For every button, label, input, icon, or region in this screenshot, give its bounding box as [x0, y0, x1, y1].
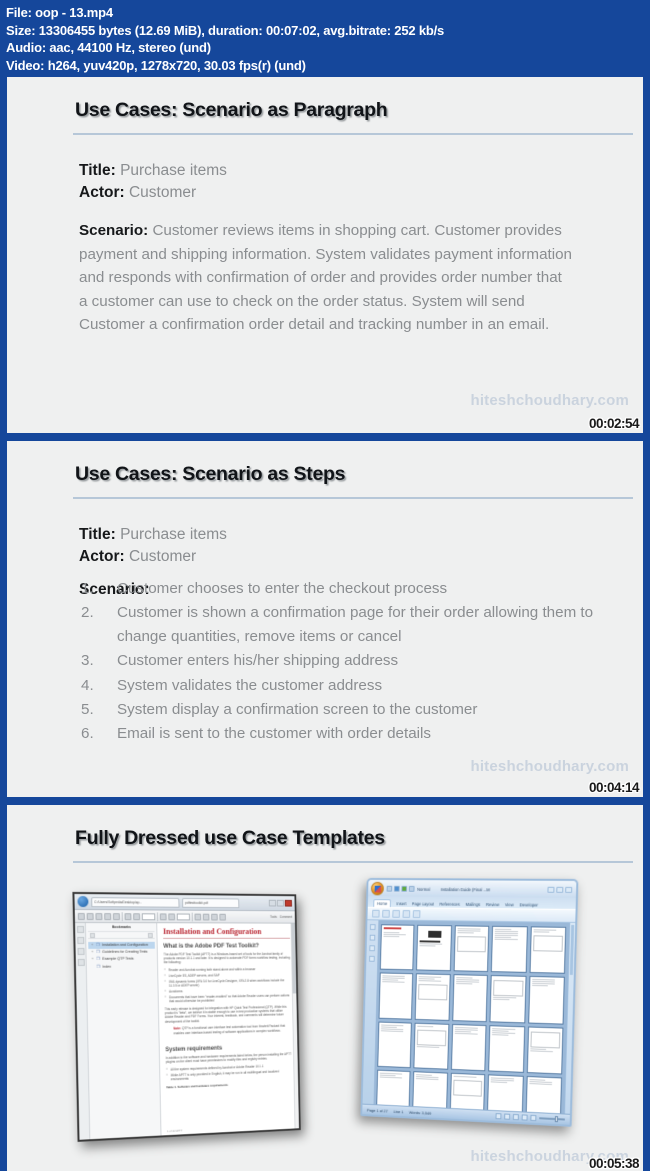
slide-2-title-rule [73, 497, 633, 499]
slide-1-scenario-label: Scenario: [79, 222, 148, 239]
slide-2-steps-list: Customer chooses to enter the checkout p… [79, 577, 621, 747]
slide-3-title-rule [73, 861, 633, 863]
bookmark-label: Example QTP Tests [102, 957, 153, 962]
bookmark-label: Guidelines for Creating Tests [102, 950, 153, 955]
page-thumbnail [525, 1076, 562, 1114]
web-layout-view-icon[interactable] [513, 1114, 519, 1120]
paste-icon [372, 910, 380, 918]
list-item: Customer is shown a confirmation page fo… [79, 601, 621, 649]
style-name-label: Normal [417, 886, 430, 891]
slide-2-actor-value: Customer [129, 548, 196, 565]
slide-3-screenshots: C:/Users/Softpedia/Desktop/ap... pdftest… [7, 867, 648, 1167]
page-thumbnail [380, 924, 415, 970]
slide-2-title-label: Title: [79, 526, 116, 543]
window-controls [269, 900, 292, 907]
slide-1-scenario-text: Customer reviews items in shopping cart.… [79, 222, 572, 333]
slide-1-timestamp: 00:02:54 [589, 416, 639, 431]
bookmark-label: Installation and Configuration [102, 943, 153, 948]
fit-page-icon [194, 913, 201, 920]
slide-2-title-value: Purchase items [120, 526, 227, 543]
list-item: XML dynamic forms (XFA 3.0 for LiveCycle… [164, 978, 291, 988]
toolbar-separator [157, 912, 158, 921]
acrobat-path-tab: C:/Users/Softpedia/Desktop/ap... [91, 897, 179, 908]
bookmark-icon: ❐ [96, 957, 100, 962]
page-thumbnail [379, 973, 414, 1020]
document-page-footer: 1 of 22 APTT [167, 1129, 182, 1134]
tab-home[interactable]: Home [373, 899, 391, 907]
scrollbar-thumb[interactable] [291, 924, 296, 994]
bookmark-options-icon [90, 932, 95, 937]
list-item: System display a confirmation screen to … [79, 698, 621, 722]
slide-2-actor-row: Actor: Customer [79, 545, 196, 568]
acrobat-bookmarks-panel: Bookmarks + ❐ Installation and C [86, 923, 162, 1139]
email-icon [104, 913, 111, 920]
slide-thumbnail-1[interactable]: Use Cases: Scenario as Paragraph Title: … [2, 77, 648, 433]
document-note-text: QTP is a functional user interface test … [174, 1024, 285, 1035]
slide-2-title: Use Cases: Scenario as Steps [75, 463, 345, 486]
select-tool-icon [113, 913, 120, 920]
toolbar-separator [192, 912, 193, 921]
expand-icon: + [90, 957, 94, 962]
page-thumbnail [415, 974, 450, 1021]
next-page-icon [133, 913, 140, 920]
page-thumbnails-icon [77, 926, 84, 933]
slide-1-actor-label: Actor: [79, 184, 125, 201]
acrobat-title-bar: C:/Users/Softpedia/Desktop/ap... pdftest… [74, 894, 294, 911]
word-title-bar: Normal Installation Guide (Final ...M [368, 880, 576, 898]
page-thumbnail [488, 1025, 524, 1073]
slide-1-actor-value: Customer [129, 184, 196, 201]
page-thumbnail [451, 1024, 487, 1072]
file-info-header: File: oop - 13.mp4 Size: 13306455 bytes … [0, 0, 650, 75]
slide-1-scenario-paragraph: Scenario: Customer reviews items in shop… [79, 219, 573, 337]
file-info-line-video: Video: h264, yuv420p, 1278x720, 30.03 fp… [6, 57, 644, 75]
back-arrow-icon [77, 896, 88, 907]
undo-icon [387, 886, 393, 892]
status-word-count: Words: 3,549 [409, 1109, 431, 1115]
word-page-canvas [374, 920, 570, 1113]
list-item: Customer enters his/her shipping address [79, 649, 621, 673]
new-bookmark-icon [148, 933, 153, 938]
print-layout-view-icon[interactable] [495, 1113, 501, 1119]
scrollbar-thumb[interactable] [570, 925, 574, 975]
expand-icon: + [90, 950, 94, 955]
status-page-number: Page 1 of 27 [367, 1107, 388, 1113]
full-screen-reading-icon[interactable] [504, 1114, 510, 1120]
acrobat-reader-screenshot: C:/Users/Softpedia/Desktop/ap... pdftest… [72, 892, 300, 1142]
watermark: hiteshchoudhary.com [470, 758, 629, 775]
slide-1-title: Use Cases: Scenario as Paragraph [75, 99, 387, 122]
watermark: hiteshchoudhary.com [470, 392, 629, 409]
page-thumbnail [490, 975, 526, 1023]
rotate-icon [211, 913, 218, 920]
quick-access-toolbar [387, 886, 415, 892]
bookmark-icon: ❐ [96, 950, 100, 955]
maximize-icon [556, 887, 563, 893]
acrobat-file-tab: pdftesttoolkit.pdf [182, 897, 239, 907]
expand-icon: + [90, 943, 94, 948]
save-icon [394, 886, 400, 892]
list-item: Reader and Acrobat running both stand-al… [164, 967, 291, 972]
slide-1-title-value: Purchase items [120, 162, 227, 179]
comment-pane-label: Comment [280, 915, 293, 919]
list-item: Email is sent to the customer with order… [79, 722, 621, 746]
bookmarks-icon [77, 937, 84, 944]
document-paragraph-3: In addition to the software and hardware… [166, 1052, 293, 1065]
slide-thumbnail-3[interactable]: Fully Dressed use Case Templates C:/User… [2, 805, 648, 1171]
acrobat-toolbar: Tools Comment [75, 910, 295, 924]
status-line-number: Line 1 [393, 1109, 403, 1114]
styles-icon [413, 910, 421, 918]
browse-up-icon [370, 935, 376, 941]
redo-icon [401, 886, 407, 892]
fullscreen-icon [219, 913, 226, 920]
close-icon [565, 887, 572, 893]
bookmark-label: Index [102, 964, 153, 970]
document-bullet-list-2: All the system requirements defined by A… [166, 1063, 293, 1082]
tools-pane-label: Tools [270, 915, 277, 919]
word-document-title: Installation Guide (Final ...M [440, 887, 490, 892]
toolbar-separator [122, 912, 123, 921]
ruler-icon [370, 924, 376, 930]
slide-thumbnail-2[interactable]: Use Cases: Scenario as Steps Title: Purc… [2, 441, 648, 797]
list-item: LiveCycle ES, ADEP servers, and SAP [164, 972, 291, 978]
document-bullet-list-1: Reader and Acrobat running both stand-al… [164, 967, 291, 1004]
slide-2-title-row: Title: Purchase items [79, 523, 227, 546]
acrobat-document-page: Installation and Configuration What is t… [157, 923, 299, 1135]
slide-2-actor-label: Actor: [79, 548, 125, 565]
zoom-out-icon [160, 913, 167, 920]
print-preview-icon [409, 886, 415, 892]
outline-view-icon[interactable] [522, 1114, 528, 1120]
open-file-icon [78, 912, 85, 919]
attachments-icon [77, 948, 84, 955]
list-item: Documents that have been "reader-enabled… [164, 993, 291, 1004]
slide-1-actor-row: Actor: Customer [79, 181, 196, 204]
slide-1-title-row: Title: Purchase items [79, 159, 227, 182]
page-thumbnail [487, 1074, 523, 1113]
page-thumbnail [529, 926, 566, 974]
page-number-box [142, 913, 155, 920]
previous-page-icon [125, 913, 132, 920]
word-document-screenshot: Normal Installation Guide (Final ...M Ho… [360, 878, 578, 1127]
print-icon [95, 913, 102, 920]
page-thumbnail [453, 925, 489, 972]
video-player-frame: File: oop - 13.mp4 Size: 13306455 bytes … [0, 0, 650, 1171]
zoom-level-box [177, 913, 190, 920]
document-note: Note: QTP is a functional user interface… [173, 1024, 291, 1035]
zoom-in-icon [168, 913, 175, 920]
page-thumbnail [491, 926, 528, 973]
minimize-icon [547, 887, 554, 893]
bookmark-icon: ❐ [96, 943, 100, 948]
slide-1-title-rule [73, 133, 633, 135]
document-heading-1: Installation and Configuration [163, 927, 290, 938]
draft-view-icon[interactable] [530, 1115, 536, 1121]
bookmark-item-index: ❐ Index [89, 963, 156, 971]
signatures-icon [77, 959, 84, 966]
single-page-icon [203, 913, 210, 920]
list-item: System validates the customer address [79, 674, 621, 698]
office-orb-icon [371, 882, 384, 896]
bookmark-icon: ❐ [97, 964, 101, 969]
minimize-icon [269, 900, 276, 907]
bullets-icon [403, 910, 411, 918]
close-icon [285, 900, 292, 907]
font-family-icon [382, 910, 390, 918]
zoom-slider[interactable] [539, 1117, 565, 1120]
page-thumbnail [452, 974, 488, 1021]
page-thumbnail-grid [376, 924, 566, 1113]
list-item: Customer chooses to enter the checkout p… [79, 577, 621, 601]
window-controls [547, 887, 572, 893]
bold-icon [392, 910, 400, 918]
slide-1-title-label: Title: [79, 162, 116, 179]
page-thumbnail [528, 976, 565, 1024]
file-info-line-file: File: oop - 13.mp4 [6, 4, 644, 22]
browse-down-icon [369, 956, 375, 962]
page-thumbnail [377, 1021, 412, 1068]
slide-3-title: Fully Dressed use Case Templates [75, 827, 385, 850]
page-thumbnail [526, 1026, 563, 1074]
zoom-slider-handle[interactable] [555, 1116, 558, 1122]
file-info-line-audio: Audio: aac, 44100 Hz, stereo (und) [6, 39, 644, 57]
slide-3-timestamp: 00:05:38 [589, 1156, 639, 1171]
document-paragraph-1: The Adobe PDF Test Toolkit (APTT) is a W… [163, 951, 290, 965]
page-thumbnail [414, 1022, 449, 1069]
select-object-icon [369, 945, 375, 951]
document-paragraph-2: This early release is designed for integ… [165, 1004, 292, 1024]
bookmarks-panel-header: Bookmarks [88, 925, 155, 932]
save-icon [87, 913, 94, 920]
document-heading-2: What is the Adobe PDF Test Toolkit? [163, 943, 290, 949]
file-info-line-size: Size: 13306455 bytes (12.69 MiB), durati… [6, 22, 644, 40]
slide-2-timestamp: 00:04:14 [589, 780, 639, 795]
document-scrollbar[interactable] [291, 924, 299, 1129]
maximize-icon [277, 900, 284, 907]
status-view-controls [495, 1113, 564, 1122]
page-thumbnail [416, 925, 451, 972]
